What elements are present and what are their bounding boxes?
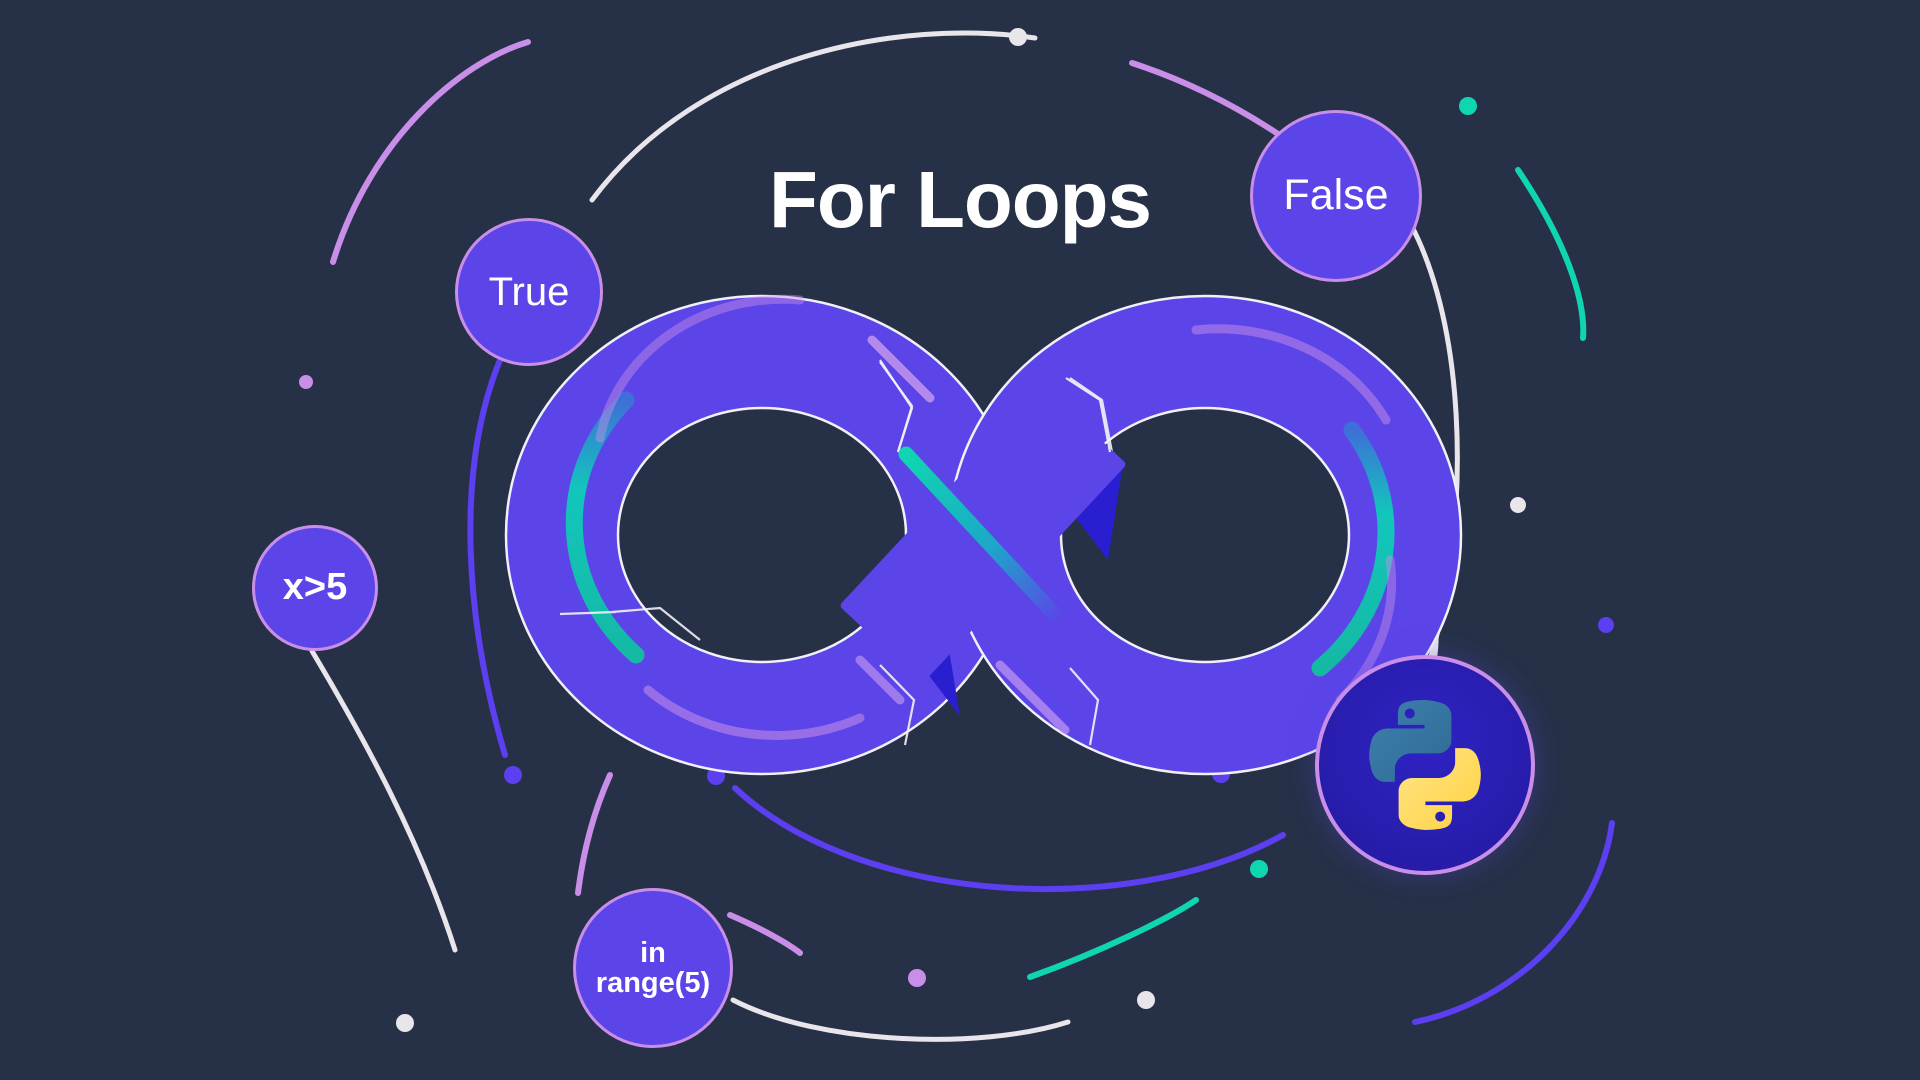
bubble-in-range-5[interactable]: in range(5) bbox=[573, 888, 733, 1048]
python-snake-blue bbox=[1369, 700, 1451, 782]
illustration-canvas: For Loops True False x>5 in range(5) bbox=[0, 0, 1920, 1080]
page-title: For Loops bbox=[0, 160, 1920, 240]
bubble-true[interactable]: True bbox=[455, 218, 603, 366]
python-icon bbox=[1349, 689, 1501, 841]
python-snake-yellow bbox=[1399, 748, 1481, 830]
python-logo-badge[interactable] bbox=[1315, 655, 1535, 875]
bubble-condition-x-greater-5[interactable]: x>5 bbox=[252, 525, 378, 651]
bubble-false[interactable]: False bbox=[1250, 110, 1422, 282]
